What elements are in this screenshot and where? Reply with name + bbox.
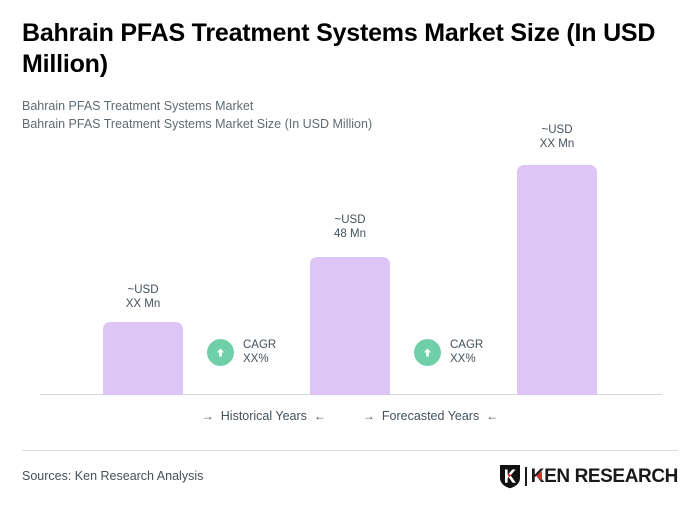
bar-value-unit-1: ~USD	[103, 283, 183, 297]
period-forecasted-label: Forecasted Years	[382, 409, 479, 423]
chart-page: Bahrain PFAS Treatment Systems Market Si…	[0, 0, 700, 520]
bar-value-amount-2: 48 Mn	[310, 227, 390, 241]
arrow-left-icon: ←	[314, 410, 326, 422]
logo-separator	[525, 467, 527, 486]
bar-1[interactable]	[103, 322, 183, 395]
period-historical-label: Historical Years	[221, 409, 307, 423]
arrow-up-icon	[207, 339, 234, 366]
cagr-annotation-2: CAGR XX%	[414, 338, 483, 366]
footer-divider	[22, 450, 678, 451]
period-legend: → Historical Years ← → Forecasted Years …	[0, 409, 700, 423]
bar-value-label-1: ~USD XX Mn	[103, 283, 183, 311]
cagr-title-1: CAGR	[243, 338, 276, 352]
cagr-value-1: XX%	[243, 352, 276, 366]
shield-logo-icon	[499, 464, 521, 489]
period-forecasted: → Forecasted Years ←	[363, 409, 498, 423]
bar-value-label-2: ~USD 48 Mn	[310, 213, 390, 241]
logo-k-letter: K	[531, 467, 544, 486]
logo-wordmark: K EN RESEARCH	[531, 467, 678, 486]
arrow-left-icon: ←	[486, 410, 498, 422]
bar-value-unit-2: ~USD	[310, 213, 390, 227]
bar-value-label-3: ~USD XX Mn	[517, 123, 597, 151]
bar-value-amount-3: XX Mn	[517, 137, 597, 151]
arrow-right-icon: →	[202, 410, 214, 422]
cagr-label-2: CAGR XX%	[450, 338, 483, 366]
bar-chart-plot: ~USD XX Mn CAGR XX% ~USD 48 Mn	[0, 0, 700, 400]
bar-2[interactable]	[310, 257, 390, 395]
period-historical: → Historical Years ←	[202, 409, 326, 423]
chart-footer: Sources: Ken Research Analysis K EN RESE…	[22, 463, 678, 489]
logo-text: EN RESEARCH	[544, 467, 678, 486]
arrow-right-icon: →	[363, 410, 375, 422]
cagr-label-1: CAGR XX%	[243, 338, 276, 366]
cagr-annotation-1: CAGR XX%	[207, 338, 276, 366]
bar-value-unit-3: ~USD	[517, 123, 597, 137]
cagr-title-2: CAGR	[450, 338, 483, 352]
bar-value-amount-1: XX Mn	[103, 297, 183, 311]
bar-3[interactable]	[517, 165, 597, 395]
ken-research-logo: K EN RESEARCH	[499, 464, 678, 489]
sources-label: Sources: Ken Research Analysis	[22, 469, 203, 483]
cagr-value-2: XX%	[450, 352, 483, 366]
logo-red-triangle-icon	[536, 471, 542, 481]
arrow-up-icon	[414, 339, 441, 366]
